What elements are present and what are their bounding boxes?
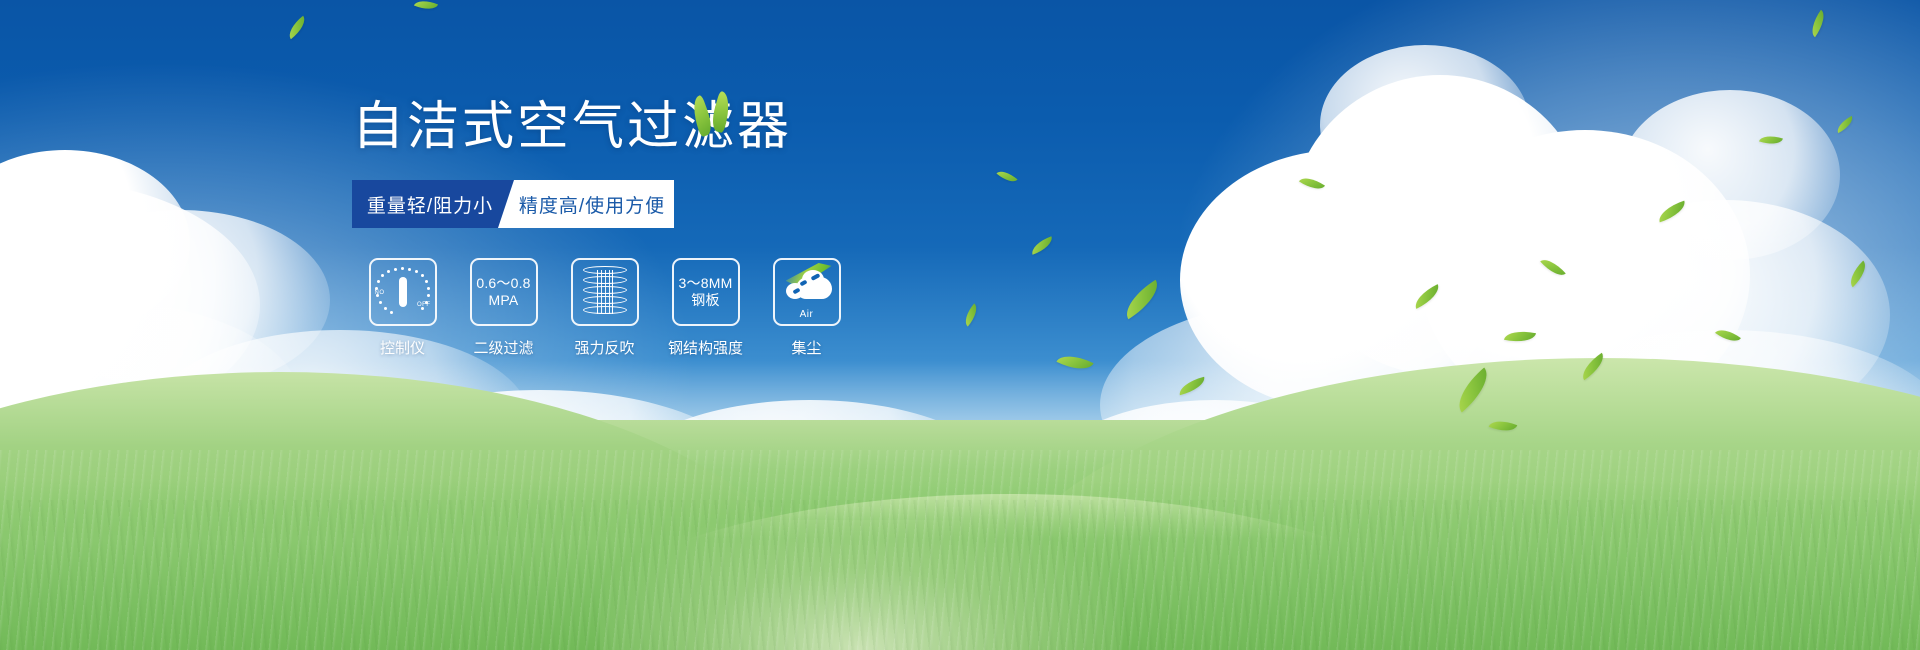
floating-leaf-21 bbox=[1715, 324, 1741, 347]
feature-list: NO OFF 控制仪 0.6～0.8 MPA 二级过滤 bbox=[352, 258, 1112, 358]
feature-icon-box: Air bbox=[773, 258, 841, 326]
sprout-decoration bbox=[690, 92, 750, 138]
feature-caption: 强力反吹 bbox=[574, 337, 634, 358]
floating-leaf-19 bbox=[1504, 327, 1536, 346]
floating-leaf-15 bbox=[1118, 280, 1165, 319]
cloud-right-1 bbox=[1290, 75, 1590, 375]
feature-item-backblow: 强力反吹 bbox=[554, 258, 655, 358]
pressure-unit: MPA bbox=[476, 292, 530, 309]
tagline-badges: 重量轻/阻力小 精度高/使用方便 bbox=[352, 180, 674, 228]
pressure-icon: 0.6～0.8 MPA bbox=[476, 275, 530, 309]
sprout-leaf-left bbox=[688, 95, 716, 138]
feature-item-control-gauge: NO OFF 控制仪 bbox=[352, 258, 453, 358]
gauge-label-off: OFF bbox=[417, 302, 431, 308]
floating-leaf-17 bbox=[1177, 377, 1207, 395]
feature-icon-box: 0.6～0.8 MPA bbox=[470, 258, 538, 326]
feature-icon-box: NO OFF bbox=[369, 258, 437, 326]
air-cloud-icon: Air bbox=[778, 265, 836, 319]
banner-content: 自洁式空气过滤器 重量轻/阻力小 精度高/使用方便 bbox=[352, 96, 1112, 358]
floating-leaf-9 bbox=[1411, 284, 1444, 309]
steel-icon: 3～8MM 钢板 bbox=[679, 275, 733, 309]
steel-thickness: 3～8MM bbox=[679, 275, 733, 292]
air-label: Air bbox=[778, 309, 836, 320]
feature-icon-box: 3～8MM 钢板 bbox=[672, 258, 740, 326]
cloud-left-2 bbox=[0, 150, 190, 335]
floating-leaf-5 bbox=[1834, 116, 1856, 133]
feature-item-steel: 3～8MM 钢板 钢结构强度 bbox=[655, 258, 756, 358]
cloud-right-4 bbox=[1320, 45, 1530, 205]
cartridge-ring bbox=[583, 296, 627, 304]
floating-leaf-8 bbox=[1844, 261, 1871, 288]
cartridge-icon bbox=[580, 266, 630, 318]
feature-item-dust-collection: Air 集尘 bbox=[756, 258, 857, 358]
grass-band bbox=[0, 420, 1920, 650]
tagline-badge-primary: 重量轻/阻力小 bbox=[352, 180, 514, 228]
product-hero-banner: 自洁式空气过滤器 重量轻/阻力小 精度高/使用方便 bbox=[0, 0, 1920, 650]
tagline-badge-secondary: 精度高/使用方便 bbox=[498, 180, 674, 228]
cartridge-ring bbox=[583, 266, 627, 274]
feature-caption: 集尘 bbox=[791, 337, 821, 358]
gauge-icon: NO OFF bbox=[375, 266, 431, 318]
cloud-right-8 bbox=[1620, 90, 1840, 260]
steel-material: 钢板 bbox=[679, 292, 733, 309]
cartridge-ring bbox=[583, 306, 627, 314]
feature-caption: 二级过滤 bbox=[473, 337, 533, 358]
floating-leaf-6 bbox=[1656, 201, 1689, 223]
cartridge-ring bbox=[583, 286, 627, 294]
cartridge-ring bbox=[583, 276, 627, 284]
floating-leaf-3 bbox=[1806, 10, 1830, 38]
floating-leaf-7 bbox=[1299, 172, 1325, 195]
feature-icon-box bbox=[571, 258, 639, 326]
floating-leaf-1 bbox=[284, 16, 310, 39]
gauge-label-no: NO bbox=[375, 290, 385, 296]
cloud-left-3 bbox=[30, 210, 330, 390]
floating-leaf-2 bbox=[414, 0, 438, 14]
grass-texture-dark bbox=[0, 500, 1920, 650]
floating-leaf-10 bbox=[1540, 254, 1566, 281]
gauge-needle bbox=[399, 277, 407, 307]
feature-item-pressure: 0.6～0.8 MPA 二级过滤 bbox=[453, 258, 554, 358]
feature-caption: 钢结构强度 bbox=[668, 337, 743, 358]
sprout-leaf-right bbox=[709, 91, 734, 134]
feature-caption: 控制仪 bbox=[380, 337, 425, 358]
pressure-value: 0.6～0.8 bbox=[476, 275, 530, 292]
floating-leaf-4 bbox=[1759, 132, 1783, 148]
